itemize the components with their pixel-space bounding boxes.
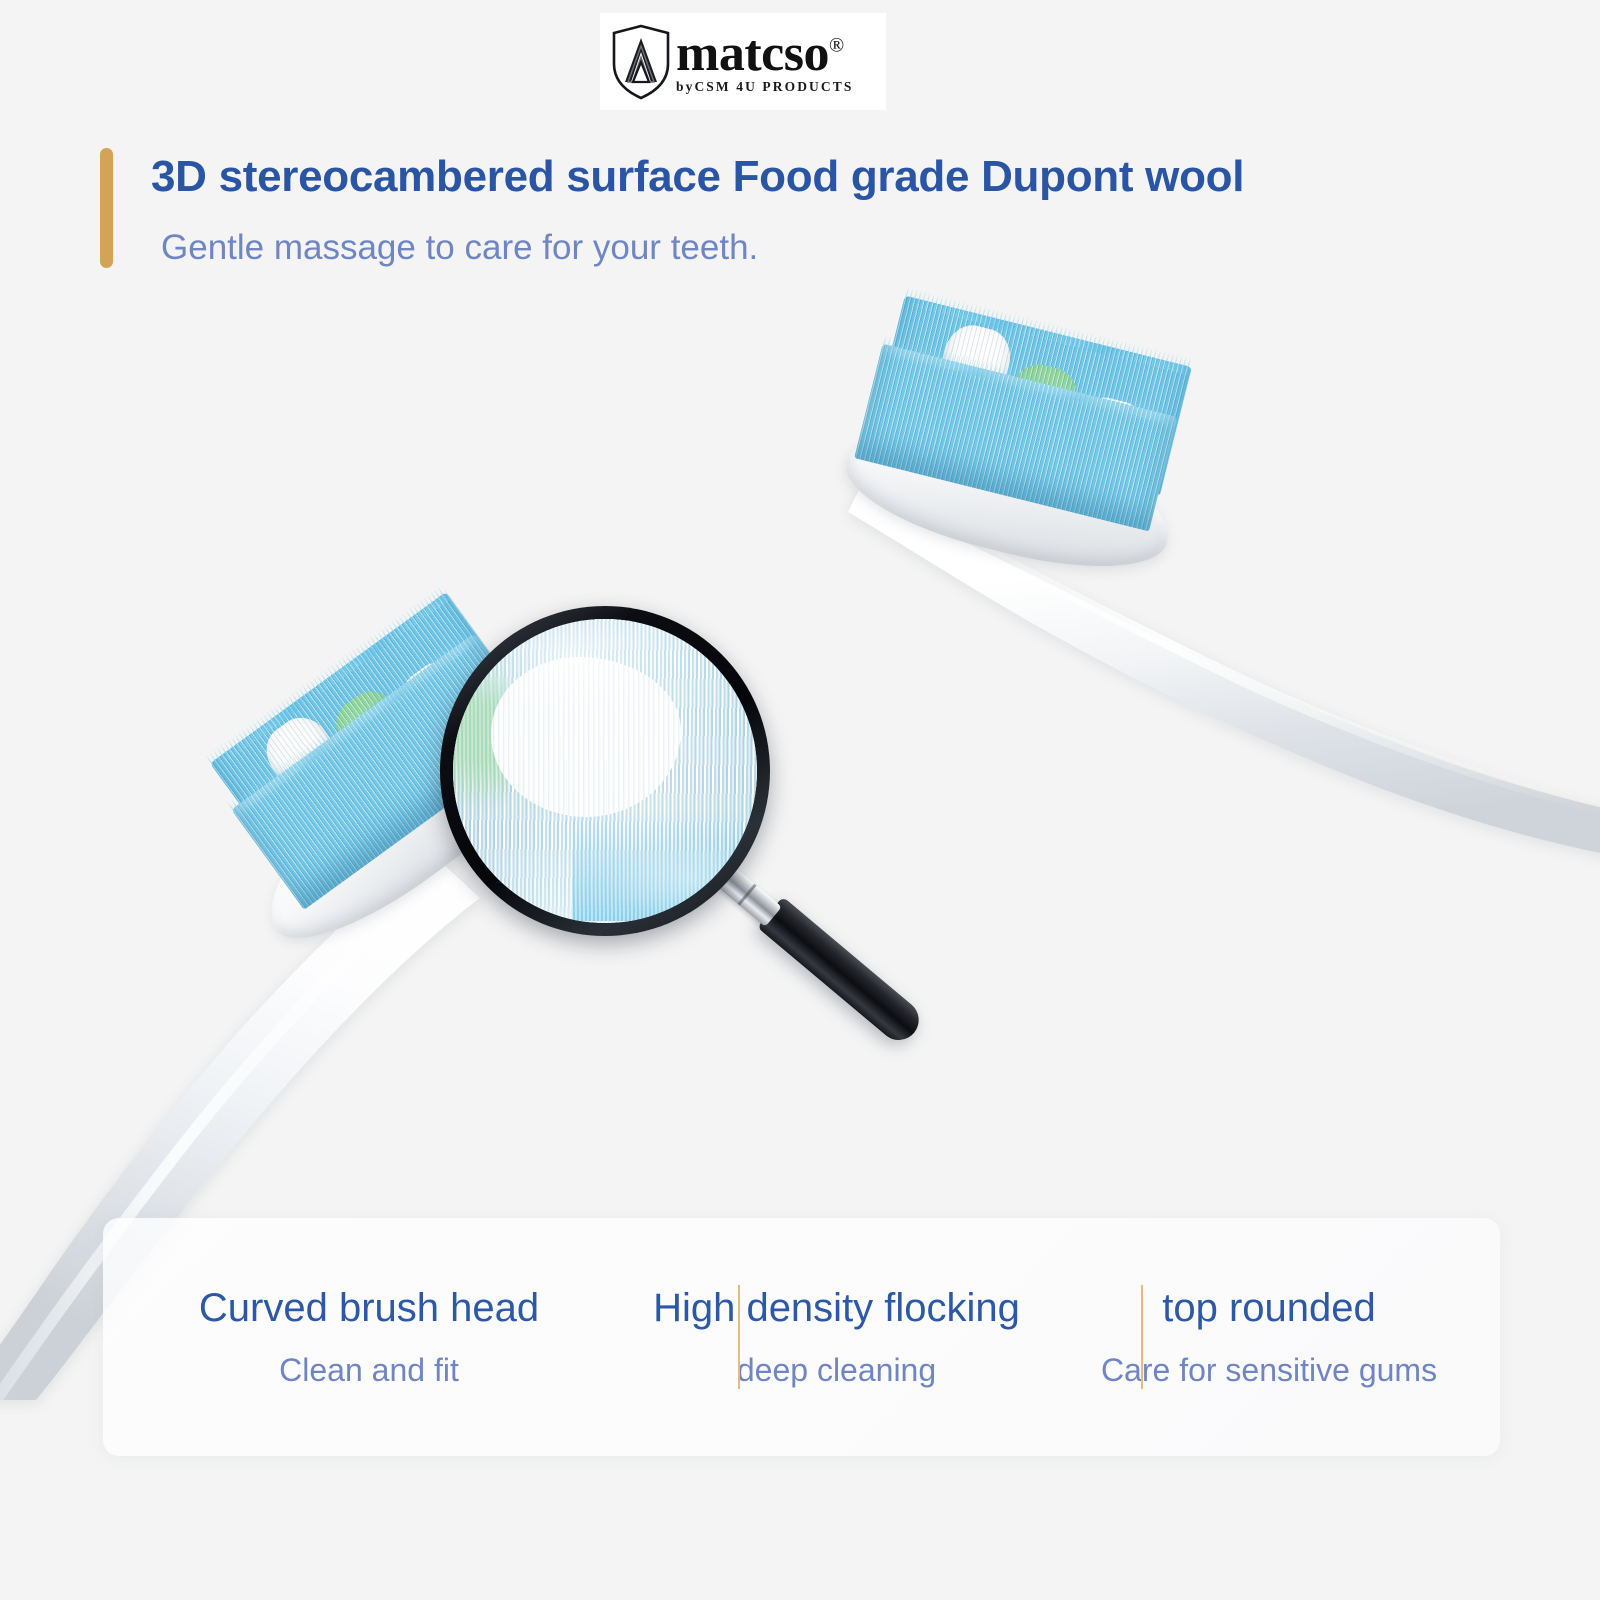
registered-mark: ® <box>829 35 844 57</box>
product-banner: matcso® byCSM 4U PRODUCTS 3D stereocambe… <box>0 0 1600 1600</box>
column-divider-1 <box>738 1285 740 1389</box>
feature-subtitle: Care for sensitive gums <box>1101 1354 1437 1386</box>
brand-logo: matcso® byCSM 4U PRODUCTS <box>600 13 886 110</box>
brand-name: matcso® <box>676 30 853 78</box>
shield-monogram-icon <box>610 24 672 100</box>
feature-column-1: Curved brush head Clean and fit <box>103 1218 635 1456</box>
feature-column-2: High density flocking deep cleaning <box>635 1218 1038 1456</box>
feature-subtitle: deep cleaning <box>737 1354 936 1386</box>
column-divider-2 <box>1141 1285 1143 1389</box>
magnifier-handle <box>757 897 927 1048</box>
feature-title: top rounded <box>1162 1288 1376 1328</box>
page-subtitle: Gentle massage to care for your teeth. <box>161 228 758 268</box>
feature-title: High density flocking <box>653 1288 1020 1328</box>
brand-wordmark: matcso® byCSM 4U PRODUCTS <box>676 30 853 93</box>
feature-title: Curved brush head <box>199 1288 539 1328</box>
magnifier-lens <box>453 619 757 923</box>
magnifying-glass <box>440 606 770 936</box>
toothbrush-top-right <box>820 300 1600 860</box>
feature-card: Curved brush head Clean and fit High den… <box>103 1218 1500 1456</box>
page-title: 3D stereocambered surface Food grade Dup… <box>151 152 1244 202</box>
headline-accent-bar <box>100 148 113 268</box>
lens-glare <box>453 619 757 923</box>
brand-name-text: matcso <box>676 25 829 82</box>
feature-subtitle: Clean and fit <box>279 1354 459 1386</box>
feature-column-3: top rounded Care for sensitive gums <box>1038 1218 1500 1456</box>
